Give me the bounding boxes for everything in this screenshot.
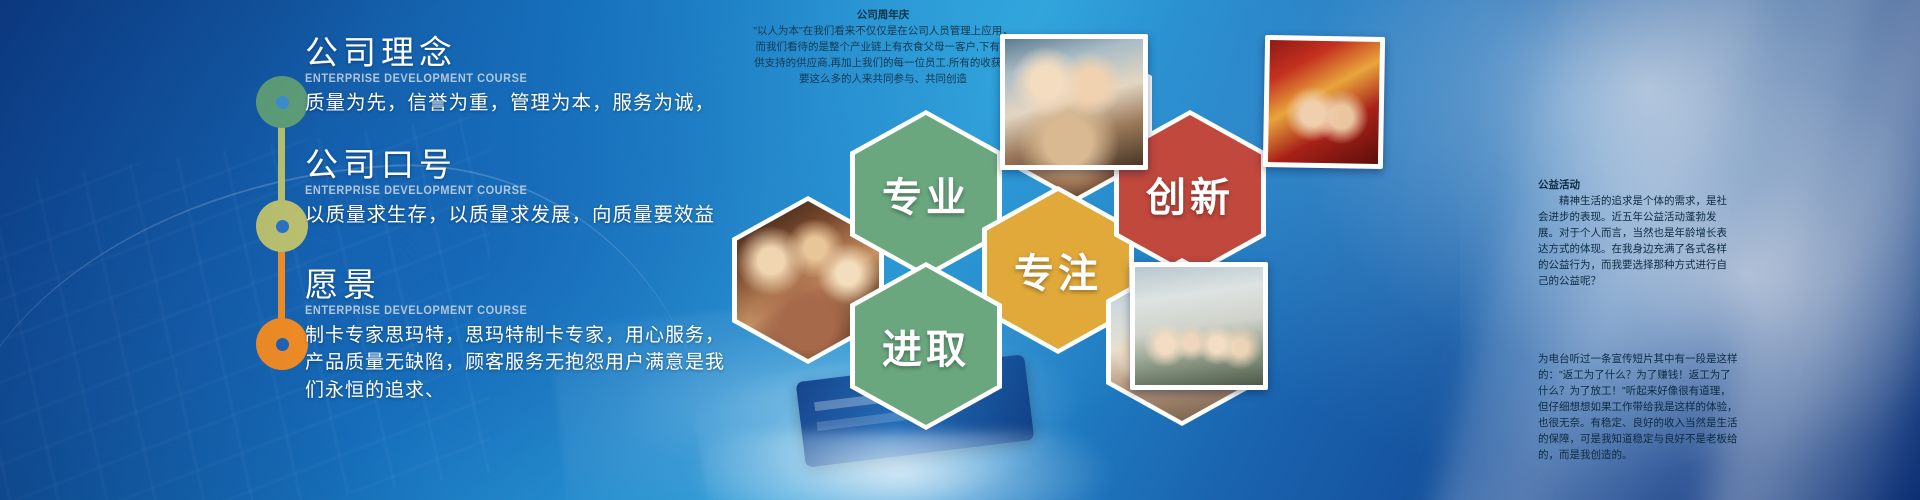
vignette-overlay <box>0 0 1920 500</box>
banner-root: 公司理念 ENTERPRISE DEVELOPMENT COURSE 质量为先，… <box>0 0 1920 500</box>
